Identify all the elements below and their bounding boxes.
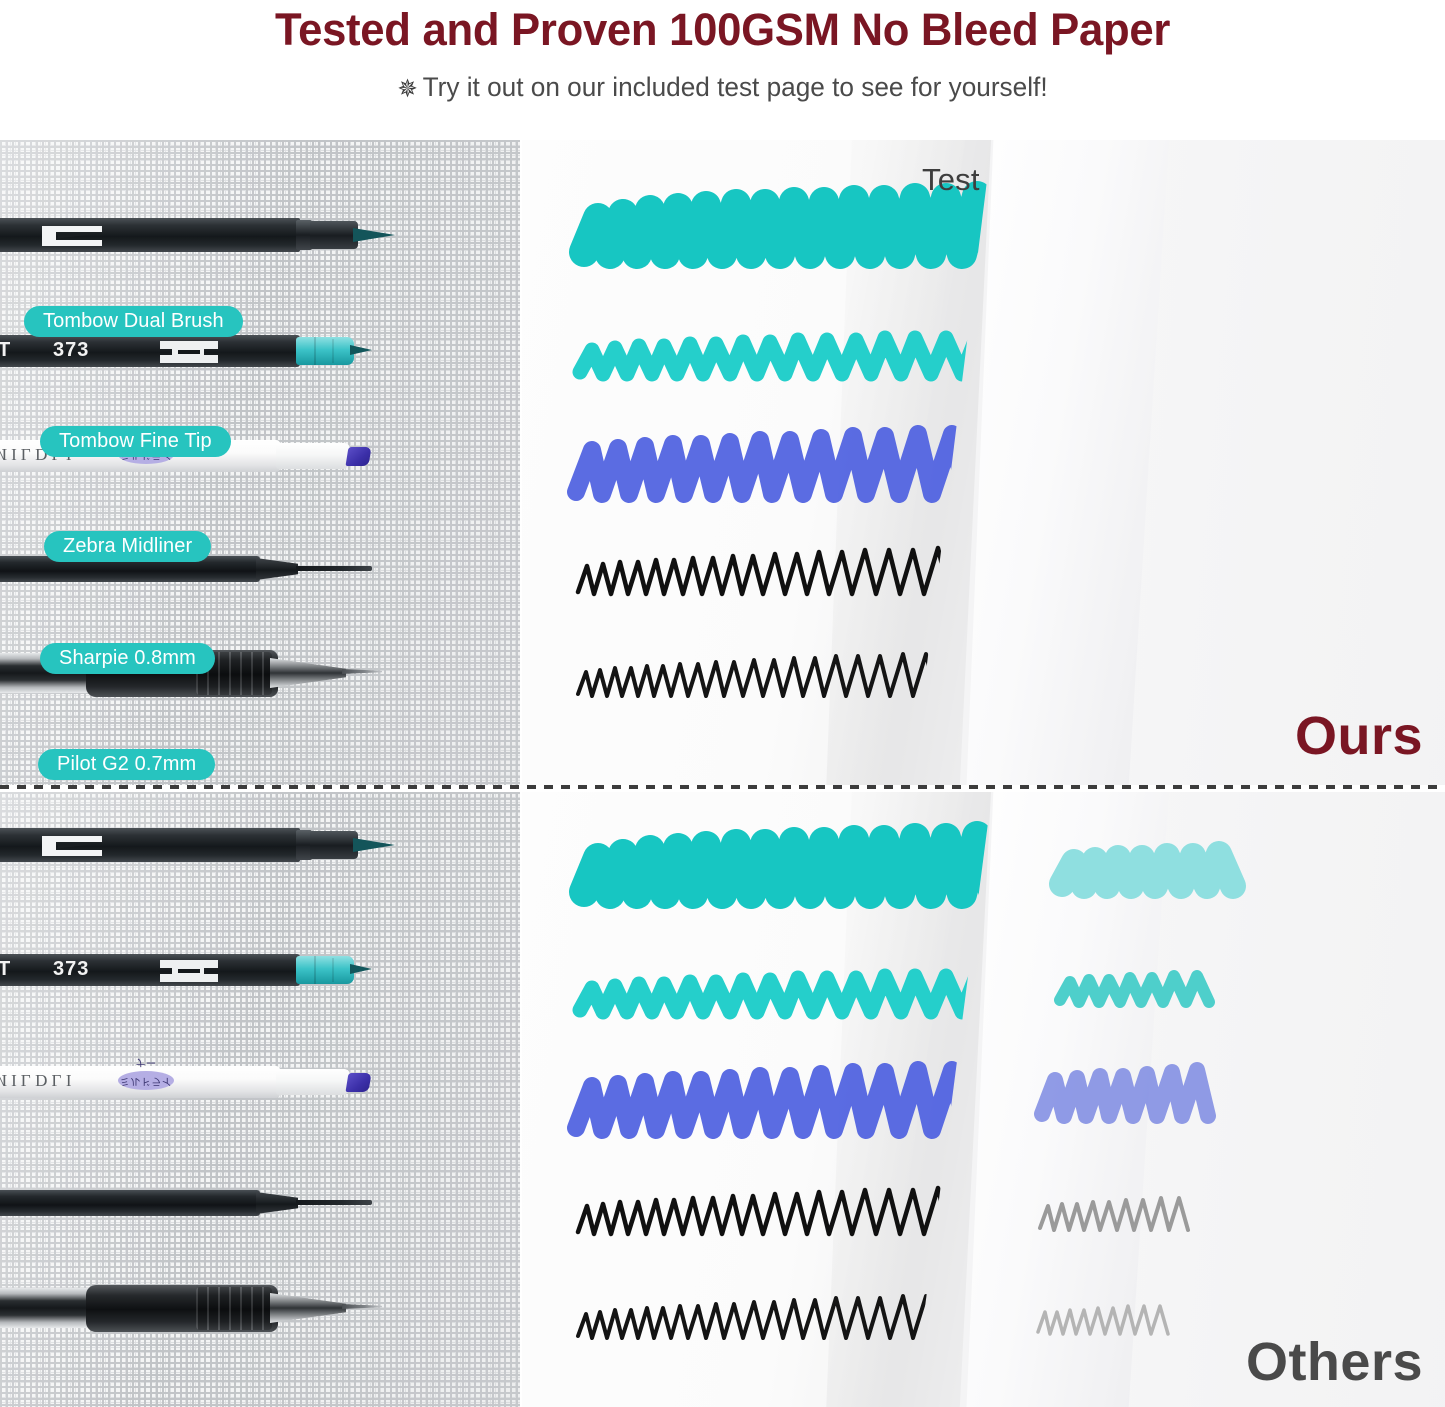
page-subtitle-text: Try it out on our included test page to … (423, 72, 1048, 102)
pen-tombow-fine-tip: T 373 (0, 944, 520, 998)
pen-code-prefix: T (0, 958, 10, 981)
pen-zebra-midliner: MILDLI ミルドライナー (0, 1054, 520, 1108)
panel-divider (0, 785, 1445, 790)
pen-label-sharpie: Sharpie 0.8mm (40, 643, 215, 674)
bleed-pilot-g2 (1038, 1306, 1168, 1334)
midliner-cap-badge: ミルドライナー (118, 1071, 174, 1090)
pen-label-pilot-g2: Pilot G2 0.7mm (38, 749, 215, 780)
header: Tested and Proven 100GSM No Bleed Paper … (0, 0, 1445, 140)
ink-strokes-ours (522, 140, 1445, 785)
comparison-panel-ours: Tombow Dual Brush Tombow Fine Tip Zebra … (0, 140, 1445, 785)
stroke-pilot-g2 (578, 654, 959, 696)
pen-code: 373 (53, 339, 89, 362)
tombow-fine-icon (158, 958, 220, 984)
pen-code-prefix: T (0, 339, 10, 362)
stroke-sharpie (578, 548, 999, 594)
bleed-tombow-fine-tip (1060, 976, 1209, 1002)
stroke-tombow-fine-tip (580, 336, 994, 374)
tombow-brush-icon (40, 224, 104, 248)
pen-pilot-g2 (0, 1280, 520, 1334)
tombow-brush-icon (40, 834, 104, 858)
tombow-fine-icon (158, 339, 220, 365)
page-title: Tested and Proven 100GSM No Bleed Paper (22, 2, 1424, 58)
pen-sharpie (0, 1174, 520, 1228)
pen-label-tombow-fine-tip: Tombow Fine Tip (40, 426, 231, 457)
pen-lineup-others: T 373 MILDLI ミルドライナー (0, 792, 520, 1407)
midliner-barrel-text: MILDLI (0, 1070, 75, 1090)
stroke-zebra-midliner (576, 432, 1000, 494)
test-sheet-ours: Test Ours (522, 140, 1445, 785)
stroke-sharpie (578, 1188, 999, 1234)
comparison-panel-others: T 373 MILDLI ミルドライナー (0, 792, 1445, 1407)
test-word-label: Test (922, 162, 980, 198)
bleed-zebra-midliner (1042, 1070, 1208, 1116)
bleed-tombow-dual-brush (1062, 854, 1233, 886)
pen-label-tombow-dual-brush: Tombow Dual Brush (24, 306, 243, 337)
pen-lineup-ours: Tombow Dual Brush Tombow Fine Tip Zebra … (0, 140, 520, 785)
panel-corner-label-ours: Ours (1295, 705, 1423, 767)
stroke-zebra-midliner (576, 1068, 1000, 1130)
sparkle-icon: ✵ (397, 72, 417, 106)
stroke-pilot-g2 (578, 1296, 959, 1338)
pen-tombow-dual-brush (0, 818, 520, 872)
pen-label-zebra-midliner: Zebra Midliner (44, 531, 211, 562)
pen-tombow-dual-brush (0, 208, 520, 262)
test-sheet-others: Others (522, 792, 1445, 1407)
pen-code: 373 (53, 958, 89, 981)
page-subtitle: ✵Try it out on our included test page to… (22, 70, 1424, 106)
stroke-tombow-dual-brush (584, 196, 1026, 254)
stroke-tombow-fine-tip (580, 974, 994, 1012)
bleed-sharpie (1040, 1198, 1188, 1230)
ink-strokes-others (522, 792, 1445, 1407)
panel-corner-label-others: Others (1246, 1331, 1423, 1393)
stroke-tombow-dual-brush (584, 836, 1026, 894)
